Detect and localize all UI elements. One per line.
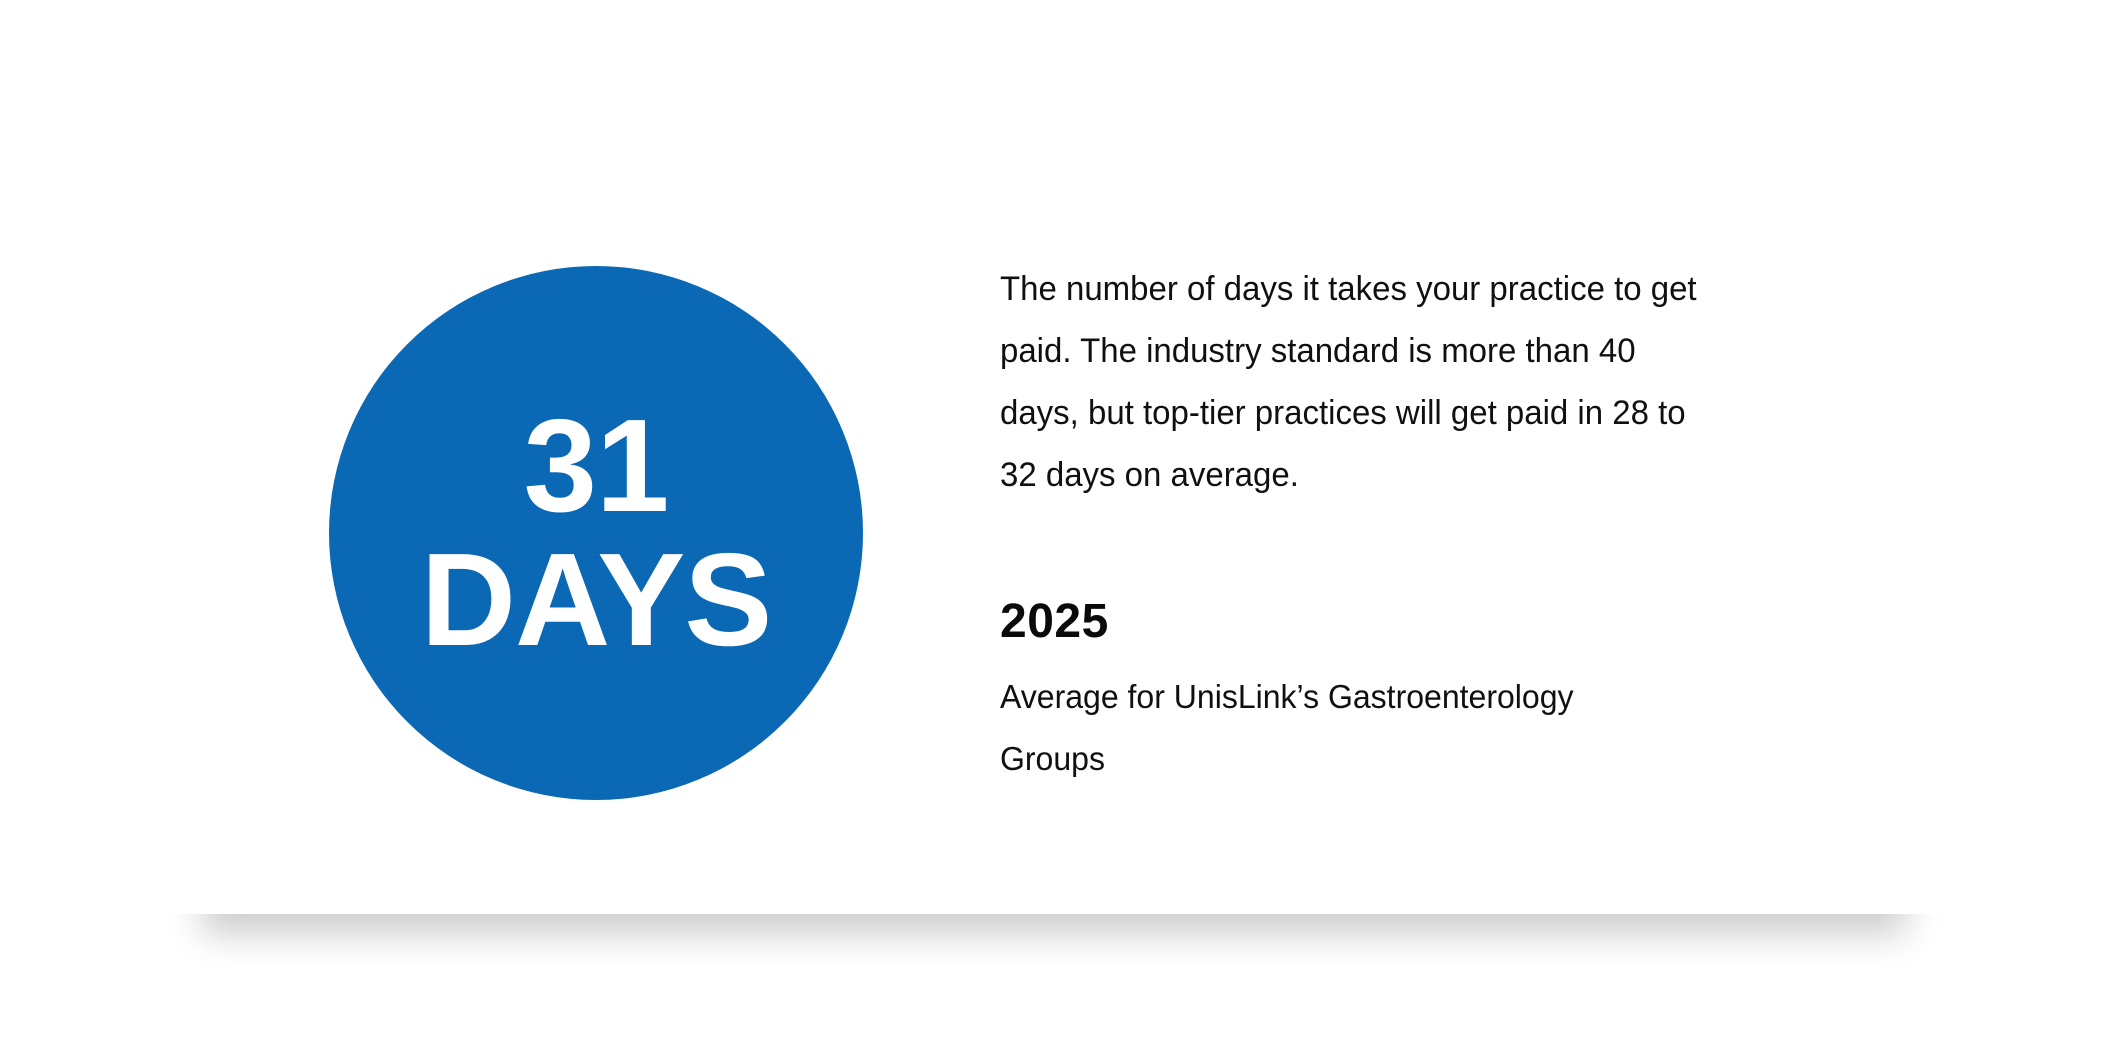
content-column: The number of days it takes your practic… <box>1000 258 1740 790</box>
stat-value: 31 <box>524 400 669 532</box>
stat-unit-label: DAYS <box>421 534 772 666</box>
caption-text: Average for UnisLink’s Gastroenterology … <box>1000 646 1679 790</box>
description-text: The number of days it takes your practic… <box>1000 258 1718 506</box>
year-heading: 2025 <box>1000 506 1740 646</box>
stat-badge: 31 DAYS <box>329 266 863 800</box>
infographic-card: DAYS IN ACCOUNTS RECEIVABLE 31 DAYS The … <box>0 0 2112 1038</box>
